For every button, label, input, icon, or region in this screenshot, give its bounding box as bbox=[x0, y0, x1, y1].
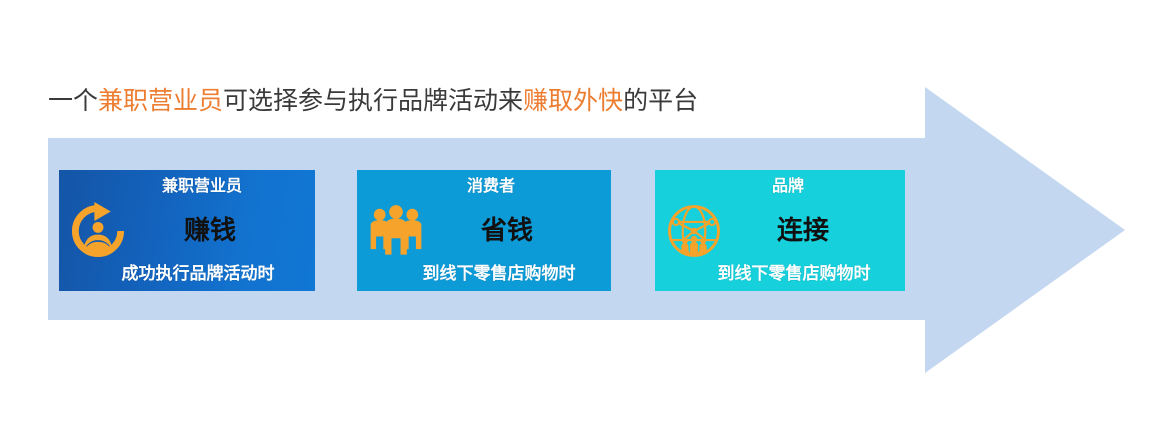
card-earner-footer: 成功执行品牌活动时 bbox=[59, 262, 315, 286]
headline-segment-3: 可选择参与执行品牌活动来 bbox=[223, 88, 523, 115]
card-consumer-header: 消费者 bbox=[357, 176, 611, 198]
card-earner-header: 兼职营业员 bbox=[59, 176, 315, 198]
headline-segment-2-highlight: 兼职营业员 bbox=[98, 88, 223, 115]
page-title: 一个兼职营业员可选择参与执行品牌活动来赚取外快的平台 bbox=[48, 86, 698, 118]
headline-segment-5: 的平台 bbox=[623, 88, 698, 115]
card-consumer-footer: 到线下零售店购物时 bbox=[357, 262, 611, 286]
card-consumer-main: 省钱 bbox=[357, 214, 611, 248]
card-brand-header: 品牌 bbox=[655, 176, 905, 198]
headline-segment-4-highlight: 赚取外快 bbox=[523, 88, 623, 115]
card-consumer[interactable]: 消费者 省钱 到线下零售店购物时 bbox=[357, 170, 611, 291]
card-brand-footer: 到线下零售店购物时 bbox=[655, 262, 905, 286]
card-brand[interactable]: 品牌 连接 到线下零售店购物时 bbox=[655, 170, 905, 291]
card-earner-main: 赚钱 bbox=[59, 214, 315, 248]
headline-segment-1: 一个 bbox=[48, 88, 98, 115]
card-earner[interactable]: 兼职营业员 赚钱 成功执行品牌活动时 bbox=[59, 170, 315, 291]
card-brand-main: 连接 bbox=[655, 214, 905, 248]
